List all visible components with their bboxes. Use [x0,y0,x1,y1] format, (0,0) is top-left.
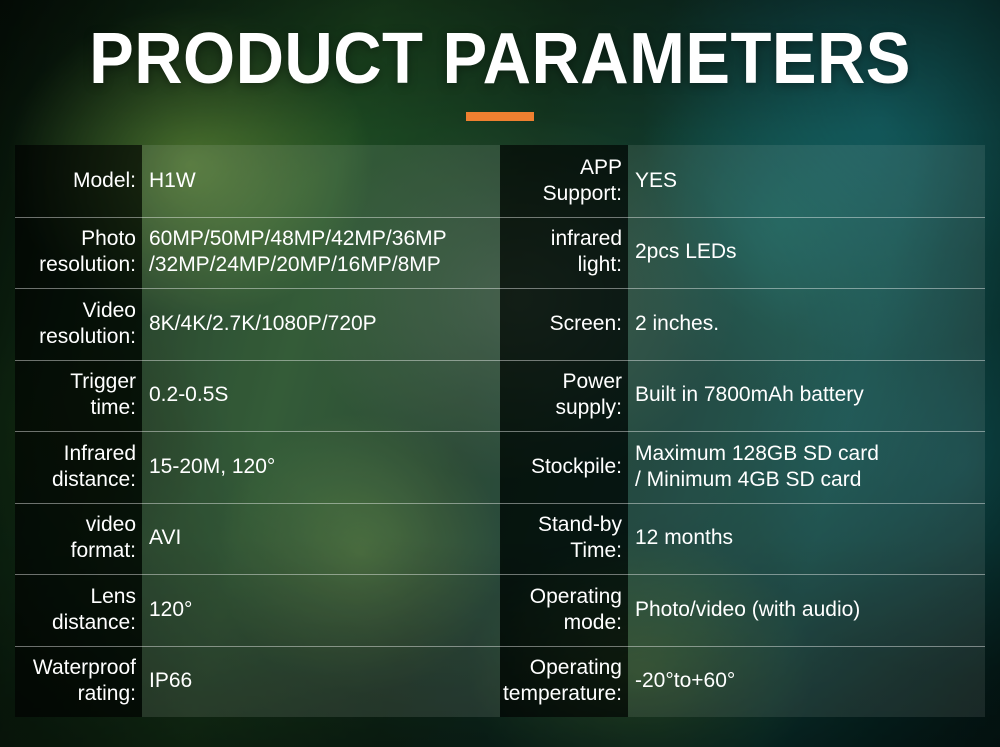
spec-label: Video resolution: [15,288,142,360]
spec-value: H1W [142,145,500,217]
spec-value: 2pcs LEDs [628,217,985,289]
table-row: Lens distance:120°Operating mode:Photo/v… [15,574,985,646]
spec-cell-right: infrared light:2pcs LEDs [500,217,985,289]
spec-value: 15-20M, 120° [142,431,500,503]
spec-cell-left: Video resolution:8K/4K/2.7K/1080P/720P [15,288,500,360]
spec-cell-left: Infrared distance:15-20M, 120° [15,431,500,503]
table-row: Waterproof rating:IP66Operating temperat… [15,646,985,718]
spec-label: video format: [15,503,142,575]
spec-value: Photo/video (with audio) [628,574,985,646]
spec-value: IP66 [142,646,500,718]
spec-cell-right: APP Support:YES [500,145,985,217]
spec-cell-right: Stockpile:Maximum 128GB SD card / Minimu… [500,431,985,503]
page-title: PRODUCT PARAMETERS [35,22,965,96]
spec-cell-right: Operating mode:Photo/video (with audio) [500,574,985,646]
spec-label: infrared light: [500,217,628,289]
spec-value: 60MP/50MP/48MP/42MP/36MP /32MP/24MP/20MP… [142,217,500,289]
spec-value: 2 inches. [628,288,985,360]
spec-label: Screen: [500,288,628,360]
spec-label: Lens distance: [15,574,142,646]
specification-table: Model:H1WAPP Support:YESPhoto resolution… [15,145,985,717]
table-row: Trigger time:0.2-0.5SPower supply:Built … [15,360,985,432]
spec-value: Maximum 128GB SD card / Minimum 4GB SD c… [628,431,985,503]
table-row: Model:H1WAPP Support:YES [15,145,985,217]
spec-label: Stockpile: [500,431,628,503]
spec-value: Built in 7800mAh battery [628,360,985,432]
title-accent-bar [466,112,534,121]
table-row: Photo resolution:60MP/50MP/48MP/42MP/36M… [15,217,985,289]
page-header: PRODUCT PARAMETERS [0,0,1000,145]
spec-label: Operating mode: [500,574,628,646]
spec-cell-left: video format:AVI [15,503,500,575]
spec-value: 120° [142,574,500,646]
spec-label: Trigger time: [15,360,142,432]
spec-cell-left: Lens distance:120° [15,574,500,646]
spec-cell-left: Model:H1W [15,145,500,217]
table-row: Infrared distance:15-20M, 120°Stockpile:… [15,431,985,503]
spec-cell-right: Screen:2 inches. [500,288,985,360]
spec-cell-right: Power supply:Built in 7800mAh battery [500,360,985,432]
spec-label: Photo resolution: [15,217,142,289]
spec-cell-left: Photo resolution:60MP/50MP/48MP/42MP/36M… [15,217,500,289]
spec-label: Waterproof rating: [15,646,142,718]
spec-label: Operating temperature: [500,646,628,718]
spec-label: Model: [15,145,142,217]
spec-value: 12 months [628,503,985,575]
table-row: video format:AVIStand-by Time:12 months [15,503,985,575]
spec-cell-left: Waterproof rating:IP66 [15,646,500,718]
spec-value: AVI [142,503,500,575]
spec-value: -20°to+60° [628,646,985,718]
spec-label: APP Support: [500,145,628,217]
spec-cell-right: Stand-by Time:12 months [500,503,985,575]
spec-value: 8K/4K/2.7K/1080P/720P [142,288,500,360]
spec-value: 0.2-0.5S [142,360,500,432]
table-row: Video resolution:8K/4K/2.7K/1080P/720PSc… [15,288,985,360]
spec-cell-left: Trigger time:0.2-0.5S [15,360,500,432]
spec-label: Infrared distance: [15,431,142,503]
spec-cell-right: Operating temperature:-20°to+60° [500,646,985,718]
spec-value: YES [628,145,985,217]
spec-label: Stand-by Time: [500,503,628,575]
spec-label: Power supply: [500,360,628,432]
